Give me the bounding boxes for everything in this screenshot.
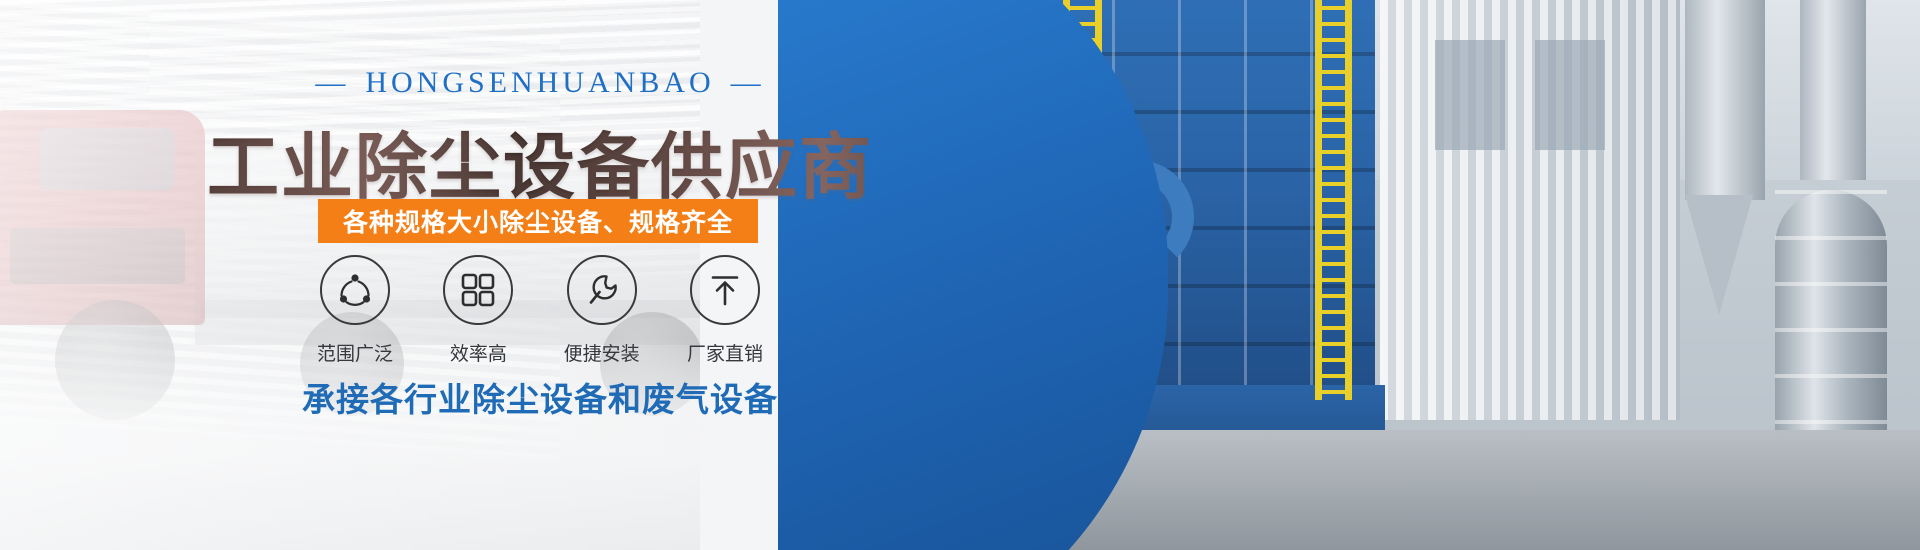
- cyclone-cone: [1685, 195, 1753, 315]
- feature-label: 范围广泛: [317, 339, 393, 366]
- feature-label: 厂家直销: [687, 339, 763, 366]
- cyclone-tower: [1685, 0, 1765, 200]
- cyclone-tower: [1800, 0, 1866, 180]
- highlight-bar-text: 各种规格大小除尘设备、规格齐全: [343, 203, 733, 239]
- feature-item-install[interactable]: 便捷安装: [547, 255, 657, 366]
- eyebrow-text: HONGSENHUANBAO: [365, 66, 714, 99]
- highlight-bar: 各种规格大小除尘设备、规格齐全: [318, 199, 758, 243]
- feature-list: 范围广泛 效率高: [300, 255, 780, 366]
- grid-squares-icon: [443, 255, 513, 325]
- feature-item-factory-direct[interactable]: 厂家直销: [670, 255, 780, 366]
- hero-banner: —HONGSENHUANBAO— 工业除尘设备供应商 各种规格大小除尘设备、规格…: [0, 0, 1920, 550]
- feature-label: 效率高: [450, 339, 507, 366]
- dash-left: —: [315, 66, 349, 100]
- page-title: 工业除尘设备供应商: [0, 108, 1080, 213]
- feature-item-efficiency[interactable]: 效率高: [423, 255, 533, 366]
- feature-label: 便捷安装: [564, 339, 640, 366]
- factory-building-cladding: [1380, 0, 1680, 420]
- hero-content: —HONGSENHUANBAO— 工业除尘设备供应商 各种规格大小除尘设备、规格…: [0, 0, 1080, 550]
- share-network-icon: [320, 255, 390, 325]
- wrench-icon: [567, 255, 637, 325]
- eyebrow-brand-line: —HONGSENHUANBAO—: [0, 66, 1080, 100]
- tagline: 承接各行业除尘设备和废气设备: [0, 373, 1080, 421]
- up-arrow-bar-icon: [690, 255, 760, 325]
- dash-right: —: [731, 66, 765, 100]
- building-window: [1535, 40, 1605, 150]
- feature-item-range[interactable]: 范围广泛: [300, 255, 410, 366]
- building-window: [1435, 40, 1505, 150]
